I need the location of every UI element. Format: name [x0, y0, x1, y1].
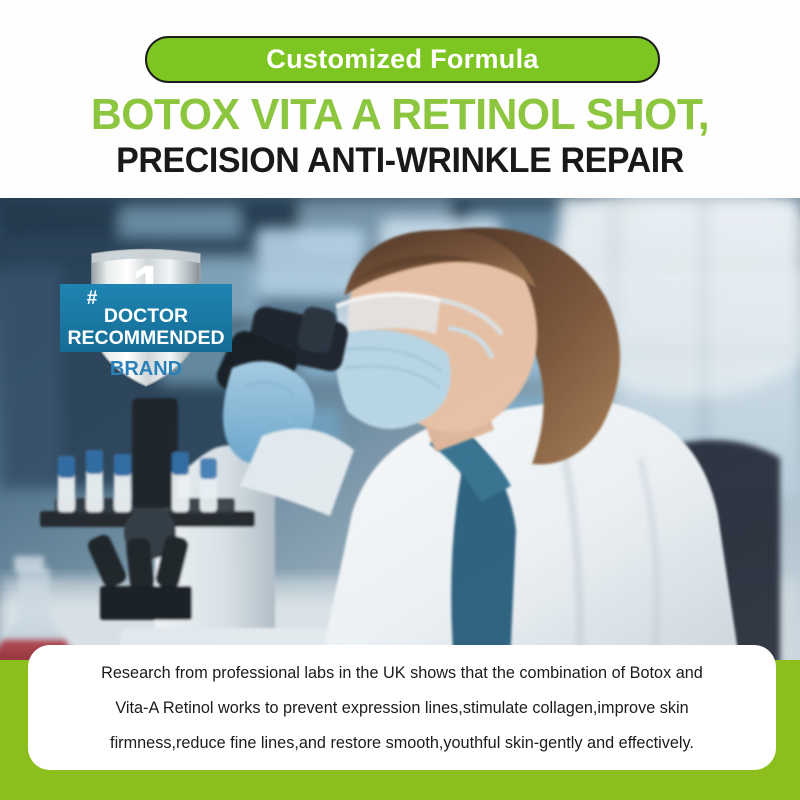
- header-section: Customized Formula BOTOX VITA A RETINOL …: [0, 0, 800, 198]
- product-headline-primary: BOTOX VITA A RETINOL SHOT,: [12, 92, 788, 138]
- shield-badge-icon: 1 # DOCTOR RECOMMENDED BRAND: [58, 246, 234, 392]
- research-text-line-1: Research from professional labs in the U…: [59, 656, 745, 691]
- advertisement-page: Customized Formula BOTOX VITA A RETINOL …: [0, 0, 800, 800]
- badge-line-recommended: RECOMMENDED: [67, 327, 224, 349]
- badge-line-brand: BRAND: [110, 358, 182, 380]
- product-headline-secondary: PRECISION ANTI-WRINKLE REPAIR: [12, 143, 788, 180]
- customized-formula-badge: Customized Formula: [145, 36, 660, 83]
- research-info-panel: Research from professional labs in the U…: [28, 645, 776, 770]
- laboratory-photo: 1 # DOCTOR RECOMMENDED BRAND: [0, 198, 800, 665]
- doctor-recommended-badge: 1 # DOCTOR RECOMMENDED BRAND: [58, 246, 234, 392]
- badge-hash: #: [87, 288, 98, 309]
- customized-formula-label: Customized Formula: [266, 46, 538, 73]
- research-text-line-3: firmness,reduce fine lines,and restore s…: [59, 726, 745, 761]
- badge-line-doctor: DOCTOR: [104, 305, 188, 327]
- research-text-line-2: Vita-A Retinol works to prevent expressi…: [59, 691, 745, 726]
